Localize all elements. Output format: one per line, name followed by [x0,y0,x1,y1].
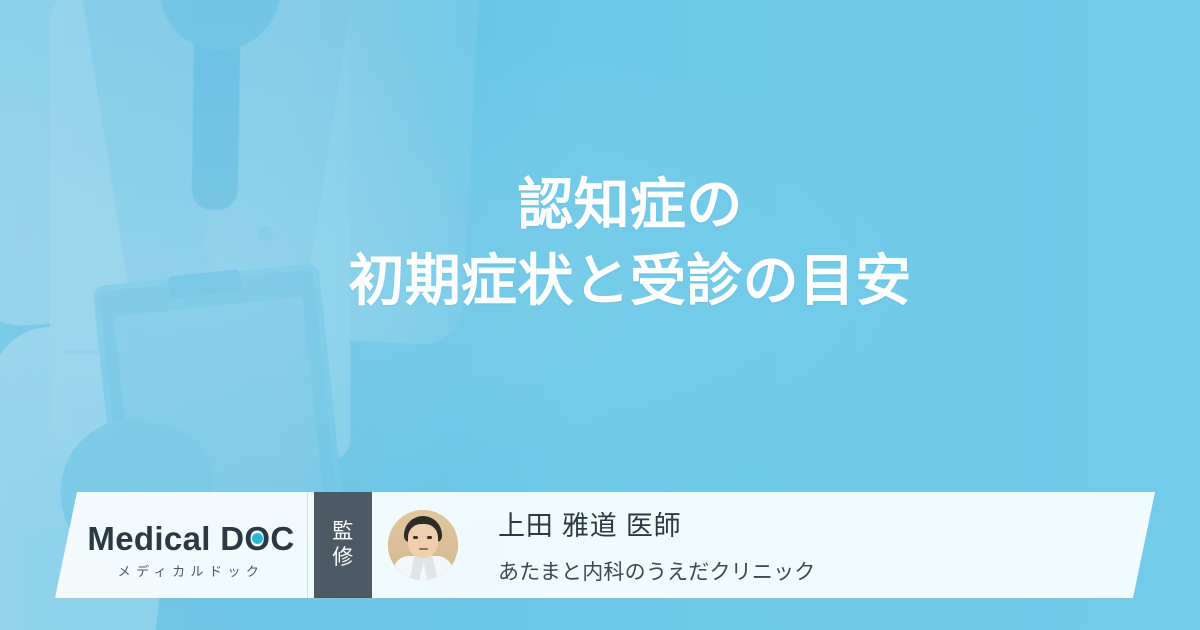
avatar [388,510,458,580]
brand-logo-text: Medical DOC [75,522,307,555]
supervision-badge: 監 修 [314,492,372,598]
credit-divider [307,492,308,598]
brand-logo-text-part2: C [270,520,294,557]
avatar-mouth [419,548,428,550]
title-line-2: 初期症状と受診の目安 [0,240,1200,321]
brand-logo-subtitle: メディカルドック [75,565,307,578]
brand-logo-o-glyph: O [244,522,270,555]
avatar-face [408,524,438,558]
title-line-1: 認知症の [0,170,1200,240]
avatar-eye-left [413,536,418,539]
brand-logo-text-part1: Medical D [87,520,244,557]
avatar-eye-right [427,536,432,539]
article-hero-banner: 認知症の 初期症状と受診の目安 Medical DOC メディカルドック 監 修… [0,0,1200,630]
doctor-credit: 上田 雅道 医師 あたまと内科のうえだクリニック [498,504,816,586]
page-title: 認知症の 初期症状と受診の目安 [0,170,1200,321]
brand-logo[interactable]: Medical DOC メディカルドック [75,522,307,578]
supervision-char-1: 監 [332,519,353,545]
doctor-name: 上田 雅道 医師 [498,504,816,543]
clinic-name: あたまと内科のうえだクリニック [498,556,816,586]
supervision-char-2: 修 [332,545,353,571]
